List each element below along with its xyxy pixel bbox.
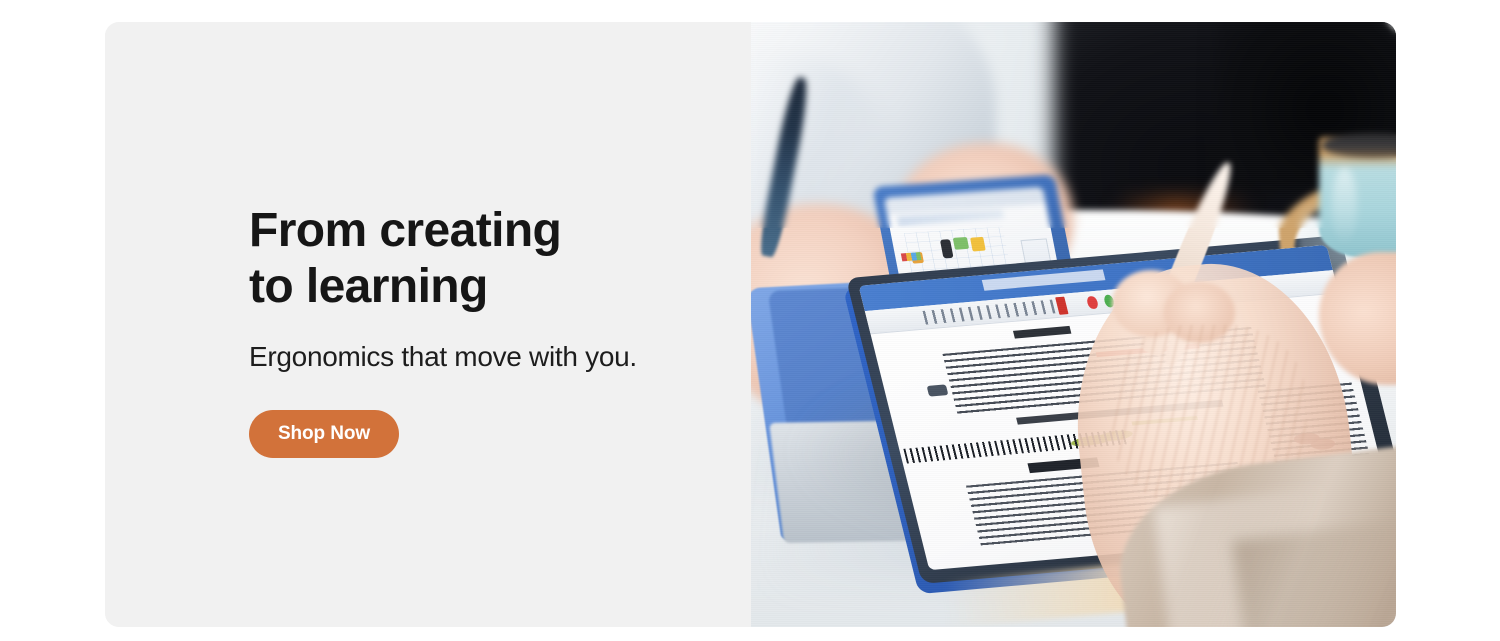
banner-subheadline: Ergonomics that move with you. [249, 340, 719, 374]
document-abstract-heading [1013, 326, 1071, 339]
shop-now-button[interactable]: Shop Now [249, 410, 399, 458]
banner-text-panel: From creating to learning Ergonomics tha… [105, 22, 751, 627]
banner-headline: From creating to learning [249, 203, 719, 315]
banner-copy: From creating to learning Ergonomics tha… [249, 203, 719, 458]
tablet-button [927, 384, 949, 396]
banner-product-photo [751, 22, 1396, 627]
page-root: From creating to learning Ergonomics tha… [0, 0, 1500, 641]
phone-screen-badge-green [953, 237, 970, 250]
coffee-cup-highlight [1332, 167, 1358, 246]
hero-banner[interactable]: From creating to learning Ergonomics tha… [105, 22, 1396, 627]
